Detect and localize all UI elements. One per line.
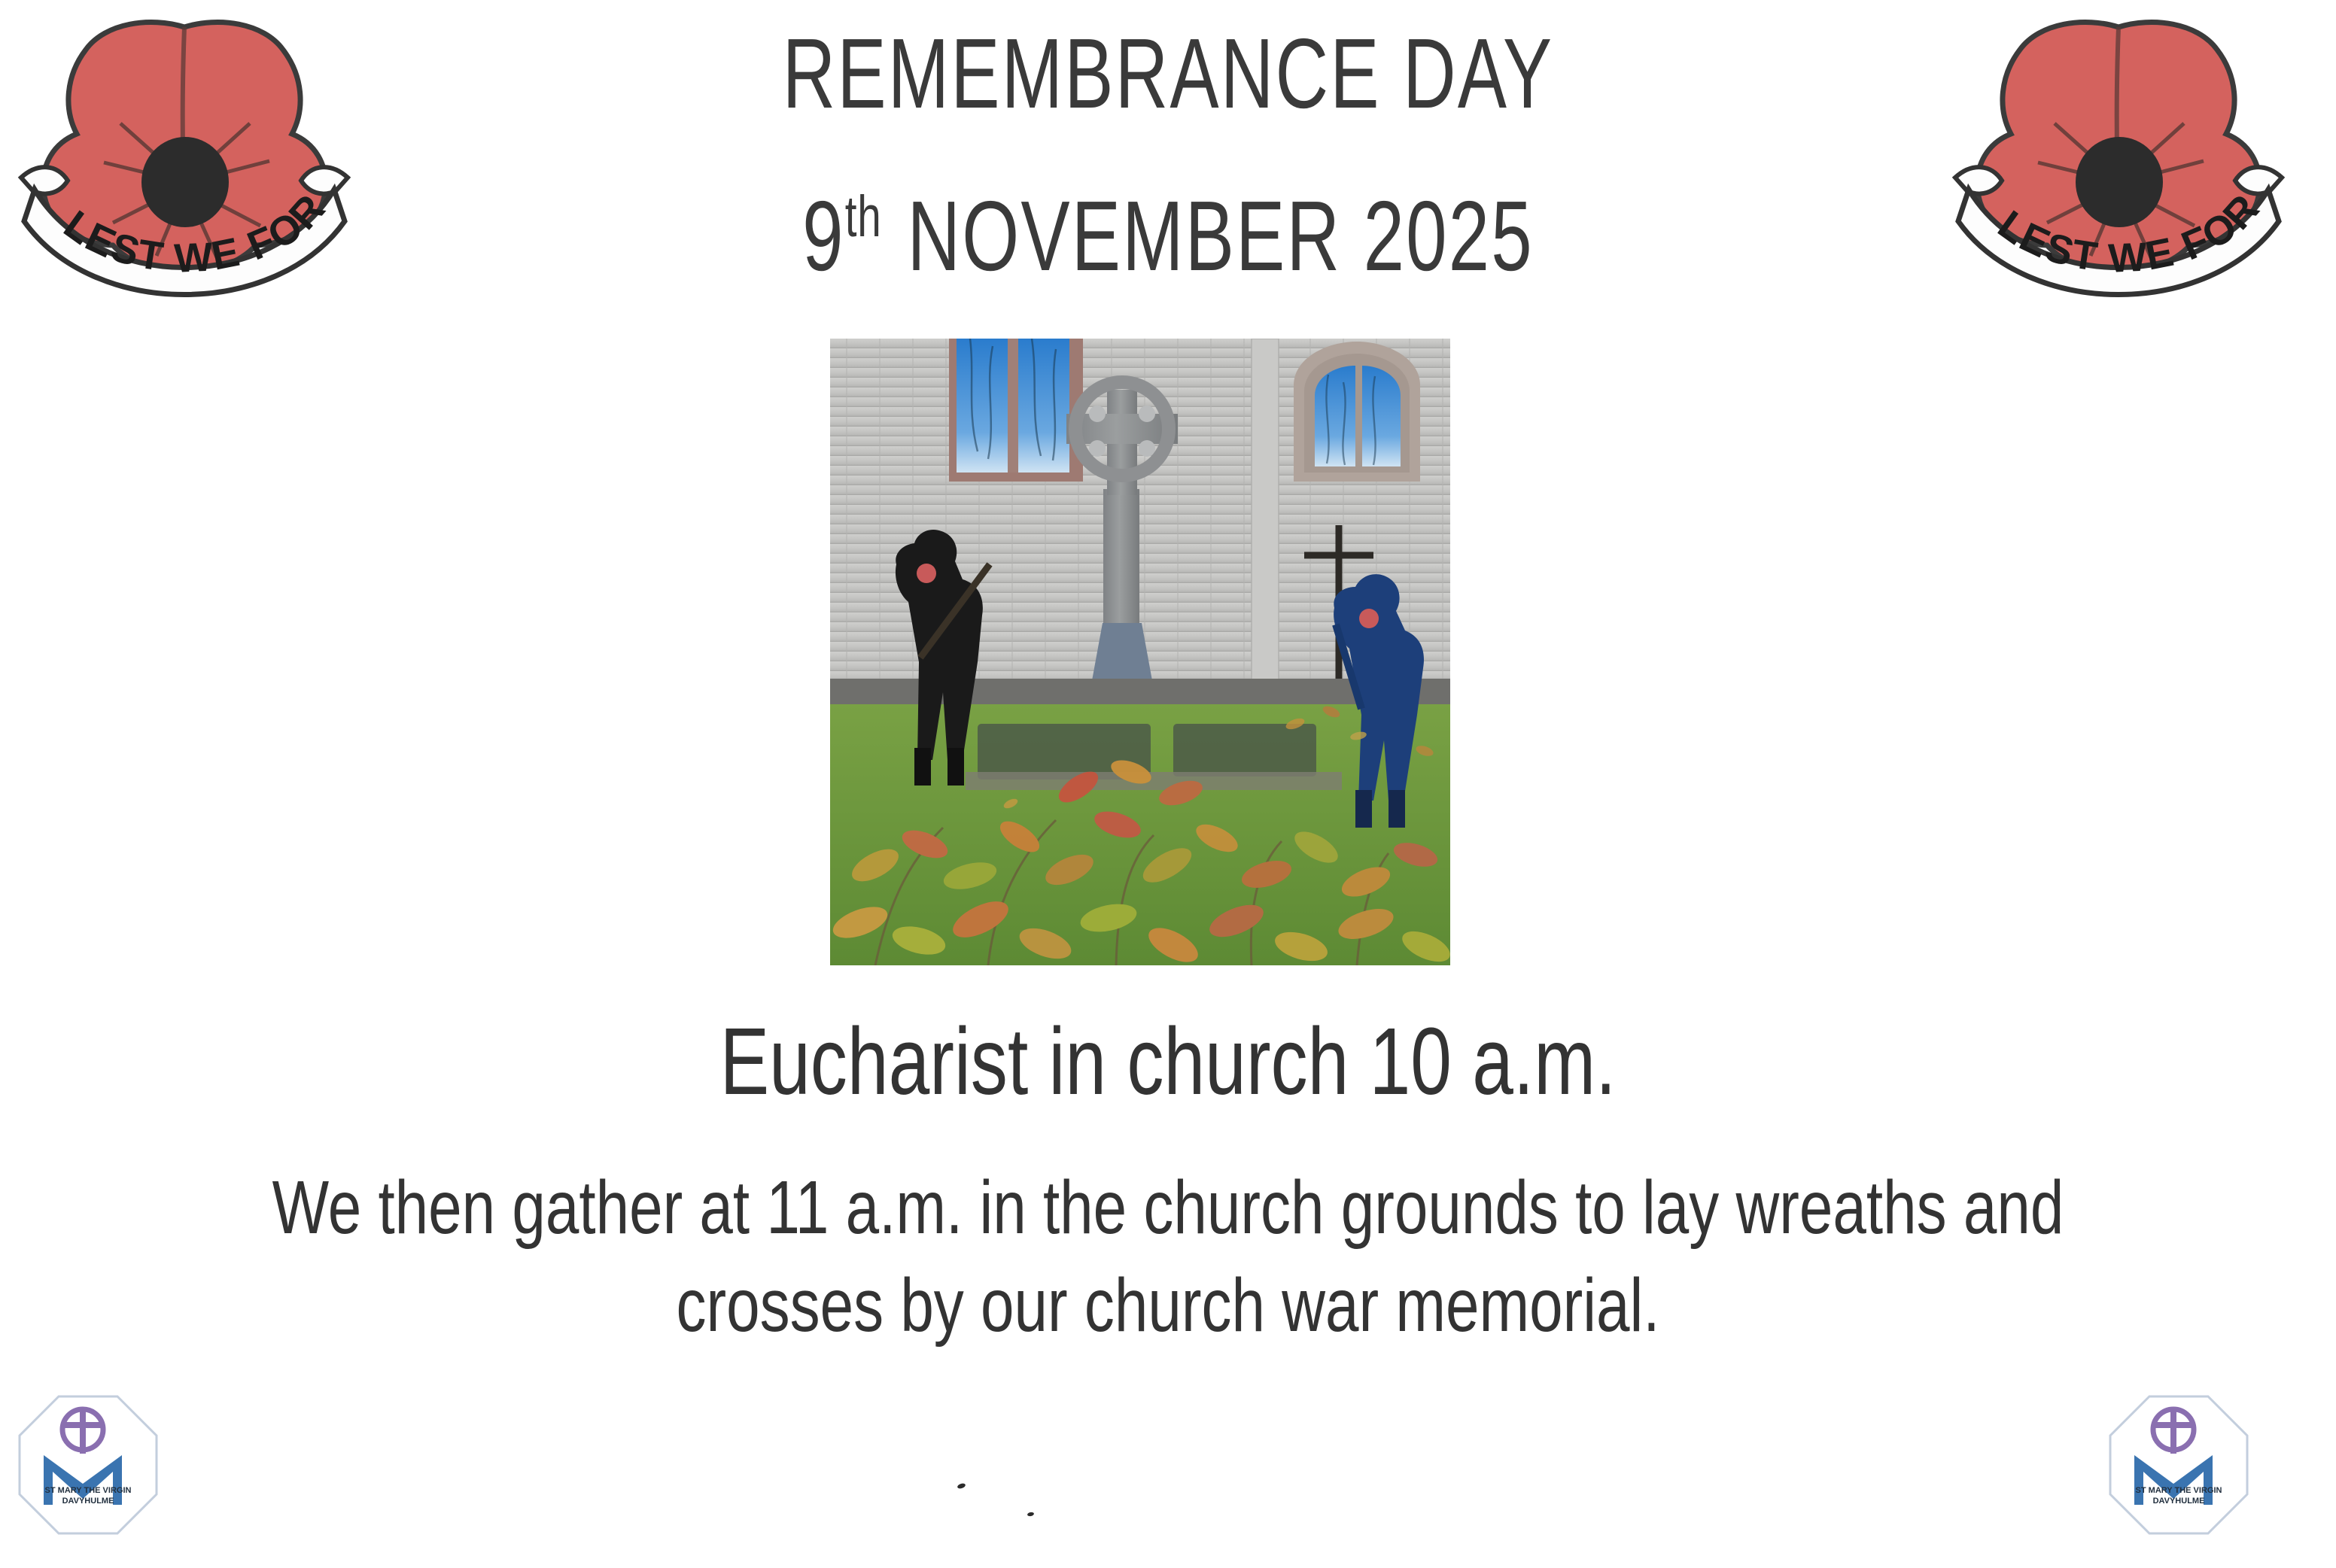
octagon-outline — [2110, 1396, 2247, 1533]
date-ordinal-suffix: th — [845, 185, 882, 249]
stained-glass-window-left — [949, 339, 1083, 482]
page-title: REMEMBRANCE DAY — [304, 17, 2033, 130]
date-day: 9 — [802, 181, 845, 291]
stained-glass-window-right — [1294, 342, 1420, 482]
date-month-year: NOVEMBER 2025 — [907, 181, 1533, 291]
church-name-line-1: ST MARY THE VIRGIN — [2136, 1486, 2222, 1495]
event-date: 9thNOVEMBER 2025 — [304, 179, 2033, 293]
church-name-line-1: ST MARY THE VIRGIN — [45, 1486, 132, 1495]
war-memorial-photo — [830, 339, 1450, 965]
gathering-details-line-1: We then gather at 11 a.m. in the church … — [233, 1165, 2102, 1251]
scan-speck — [1027, 1512, 1035, 1517]
octagon-outline — [20, 1396, 157, 1533]
remembrance-day-poster: LEST WE FORGET — [0, 0, 2336, 1568]
church-logo-left: ST MARY THE VIRGIN DAVYHULME — [17, 1393, 160, 1536]
scan-speck — [957, 1482, 966, 1489]
wall-buttress — [1252, 339, 1279, 715]
church-name-line-2: DAVYHULME — [2153, 1497, 2205, 1506]
church-name-line-2: DAVYHULME — [62, 1497, 114, 1506]
service-time-text: Eucharist in church 10 a.m. — [257, 1007, 2079, 1116]
gathering-details-line-2: crosses by our church war memorial. — [233, 1263, 2102, 1349]
church-logo-right: ST MARY THE VIRGIN DAVYHULME — [2107, 1393, 2250, 1536]
